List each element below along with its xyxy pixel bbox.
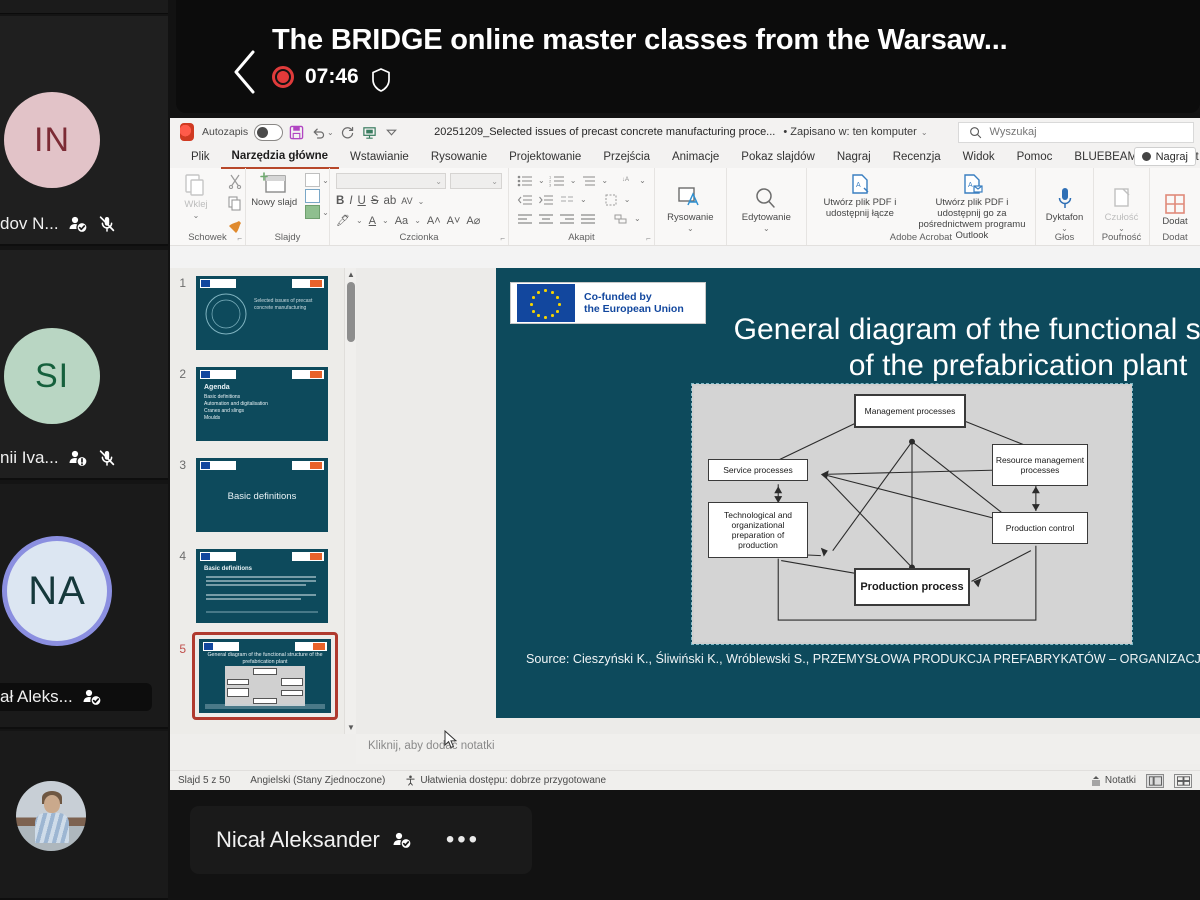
font-color-icon[interactable]: A [369, 215, 376, 227]
tab-widok[interactable]: Widok [952, 146, 1006, 168]
reset-icon [305, 189, 320, 203]
slide-preview-title: Selected issues of precast concrete manu… [254, 298, 316, 311]
slide-number: 5 [170, 632, 192, 656]
notes-pane[interactable]: Kliknij, aby dodać notatki [356, 734, 1200, 764]
customize-toolbar-chevron-down-icon[interactable] [383, 121, 400, 143]
recording-timer: 07:46 [305, 65, 359, 89]
akapit-dialog-launcher[interactable]: ⌐ [646, 234, 651, 243]
create-pdf-share-link-label: Utwórz plik PDF i udostępnij łącze [814, 197, 906, 219]
slide-thumbnail-4[interactable]: 4 Basic definitions [170, 545, 356, 627]
decrease-indent-icon[interactable] [517, 193, 534, 206]
shield-icon [370, 67, 390, 87]
slide-title-line2: of the prefabrication plant [496, 348, 1200, 384]
bullets-icon[interactable] [517, 174, 534, 187]
paste-icon [183, 171, 209, 199]
notes-icon [1090, 775, 1102, 787]
ribbon-group-label: Głos [1036, 232, 1093, 243]
tab-narzedzia-glowne[interactable]: Narzędzia główne [221, 145, 340, 169]
ppt-titlebar: Autozapis ⌄ 20251209_Selected issues of … [170, 118, 1200, 146]
slide-preview-diagram [225, 666, 305, 706]
eu-logo-icon [200, 461, 236, 470]
slide-number: 1 [170, 272, 192, 290]
ribbon-group-label: Akapit [509, 232, 654, 243]
layout-icon [305, 173, 320, 187]
ribbon-group-adobe-acrobat: A Utwórz plik PDF i udostępnij łącze A U… [807, 168, 1036, 245]
line-spacing-icon[interactable]: ↓A [618, 174, 635, 187]
increase-font-icon[interactable]: A˄ [427, 215, 441, 227]
line-spacing-chevron-down-icon[interactable]: ⌄ [639, 176, 646, 185]
participant-tile-2[interactable]: SI nii Iva... [0, 250, 168, 480]
slide-preview: Basic definitions [196, 549, 328, 623]
paste-label: Wklej [184, 199, 207, 210]
back-button[interactable] [212, 47, 266, 67]
drawing-label: Rysowanie [667, 212, 713, 223]
participant-tile-1[interactable]: IN dov N... [0, 16, 168, 246]
ribbon-group-label: Dodat [1150, 232, 1200, 243]
slide-title-line1: General diagram of the functional struct… [496, 312, 1200, 348]
dictate-button[interactable]: Dyktafon ⌄ [1040, 186, 1090, 234]
drawing-icon [675, 186, 705, 212]
avatar-photo [16, 781, 86, 851]
bridge-logo-icon [292, 279, 324, 288]
slide-stage: Co-funded by the European Union The B ri… [356, 268, 1200, 734]
diagram-node-management: Management processes [854, 394, 966, 428]
record-button-label: Nagraj [1156, 151, 1188, 163]
slide-preview-bullet-4: Moulds [204, 415, 220, 421]
thumbnail-scrollbar[interactable]: ▲ ▼ [344, 268, 356, 734]
search-placeholder: Wyszukaj [990, 126, 1037, 138]
character-spacing-icon[interactable]: AV [401, 196, 412, 206]
ribbon-group-label: Poufność [1094, 232, 1149, 243]
text-direction-icon[interactable] [603, 193, 620, 206]
text-highlight-icon[interactable]: 🖊 [336, 214, 350, 227]
ribbon-group-akapit: ⌄ 123⌄ ⌄ ↓A⌄ ⌄ ⌄ [509, 168, 655, 245]
spacing-chevron-down-icon[interactable]: ⌄ [418, 197, 425, 206]
accessibility-status[interactable]: Ułatwienia dostępu: dobrze przygotowane [405, 775, 606, 786]
cut-scissors-icon[interactable] [227, 173, 247, 193]
mic-muted-icon [97, 214, 117, 234]
participant-tile-3[interactable]: NA ał Aleks... [0, 484, 168, 729]
slide-preview-title: Basic definitions [204, 566, 252, 572]
tab-plik[interactable]: Plik [180, 146, 221, 168]
text-line [206, 584, 306, 586]
layout-button[interactable]: ⌄ [305, 173, 329, 187]
slide-thumbnail-panel[interactable]: 1 Selected issues of precast concrete ma… [170, 268, 356, 734]
bridge-logo-icon [295, 642, 327, 651]
create-pdf-outlook-button[interactable]: A Utwórz plik PDF i udostępnij go za poś… [916, 173, 1028, 241]
bridge-logo-icon [292, 552, 324, 561]
section-icon [305, 205, 320, 219]
addins-grid-icon [1163, 192, 1187, 216]
avatar: SI [4, 328, 100, 424]
slide-number: 2 [170, 363, 192, 381]
sensitivity-button[interactable]: Czułość ⌄ [1097, 186, 1147, 234]
slide-thumbnail-5[interactable]: 5 General diagram of the functional stru… [170, 632, 356, 720]
participant-name: dov N... [0, 214, 59, 234]
diagram-node-resource: Resource management processes [992, 444, 1088, 486]
avatar-initials: NA [28, 569, 86, 614]
editing-button[interactable]: Edytowanie ⌄ [731, 186, 801, 234]
tab-pokaz-slajdow[interactable]: Pokaz slajdów [730, 146, 826, 168]
dictate-label: Dyktafon [1046, 212, 1084, 223]
slide-thumbnail-6[interactable]: 6 Automation and digitalisation [170, 730, 356, 734]
new-slide-label: Nowy slajd [251, 197, 297, 208]
presenter-check-icon [392, 830, 412, 850]
present-screen-icon[interactable] [361, 121, 378, 143]
addins-label: Dodat [1162, 216, 1187, 227]
source-line [205, 704, 325, 709]
record-button[interactable]: Nagraj [1134, 147, 1196, 166]
text-line [206, 576, 316, 578]
drawing-chevron-down-icon[interactable]: ⌄ [687, 223, 694, 234]
slide-preview-bullet-3: Cranes and slings [204, 408, 244, 414]
sensitivity-label: Czułość [1105, 212, 1139, 223]
meeting-subbar: 07:46 [272, 65, 1007, 89]
italic-button[interactable]: I [349, 195, 352, 207]
slide-number: 4 [170, 545, 192, 563]
workspace: 1 Selected issues of precast concrete ma… [170, 268, 1200, 790]
diagram-node-techprep: Technological and organizational prepara… [708, 502, 808, 558]
accessibility-text: Ułatwienia dostępu: dobrze przygotowane [420, 775, 606, 786]
ribbon-group-label: Slajdy [246, 232, 329, 243]
ribbon-group-poufnosc: Czułość ⌄ Poufność [1094, 168, 1150, 245]
tab-rysowanie[interactable]: Rysowanie [420, 146, 498, 168]
copy-icon[interactable] [227, 195, 247, 215]
autosave-label: Autozapis [202, 126, 248, 138]
meeting-title-block: The BRIDGE online master classes from th… [272, 24, 1007, 89]
status-bar: Slajd 5 z 50 Angielski (Stany Zjednoczon… [170, 770, 1200, 790]
text-line [206, 580, 316, 582]
notes-label: Notatki [1105, 775, 1136, 786]
selected-thumbnail-frame[interactable]: General diagram of the functional struct… [192, 632, 338, 720]
presenter-alert-icon [68, 448, 88, 468]
multilevel-chevron-down-icon[interactable]: ⌄ [601, 176, 608, 185]
text-shadow-icon[interactable]: ab [384, 195, 397, 207]
numbering-chevron-down-icon[interactable]: ⌄ [570, 176, 577, 185]
text-line [206, 598, 301, 600]
justify-icon[interactable] [580, 212, 597, 225]
numbering-icon[interactable]: 123 [549, 174, 566, 187]
ribbon-group-dodatki: Dodat Dodat [1150, 168, 1200, 245]
svg-text:3: 3 [549, 182, 552, 187]
increase-indent-icon[interactable] [538, 193, 555, 206]
more-options-button[interactable]: ••• [446, 835, 480, 845]
slide-preview-bullet-1: Basic definitions [204, 394, 240, 400]
slide-thumbnail-2[interactable]: 2 Agenda Basic definitions Automation an… [170, 363, 356, 445]
strikethrough-button[interactable]: S [371, 195, 379, 207]
text-direction-chevron-down-icon[interactable]: ⌄ [624, 195, 631, 204]
case-chevron-down-icon[interactable]: ⌄ [414, 216, 421, 225]
create-pdf-share-link-button[interactable]: A Utwórz plik PDF i udostępnij łącze [814, 173, 906, 219]
slide-title[interactable]: General diagram of the functional struct… [496, 312, 1200, 384]
new-slide-icon [260, 171, 288, 197]
active-speaker-pill: Nicał Aleksander ••• [190, 806, 532, 874]
multilevel-list-icon[interactable] [580, 174, 597, 187]
slide-preview-title: Basic definitions [196, 491, 328, 502]
font-family-select[interactable]: ⌄ [336, 173, 446, 189]
slide-preview-title: General diagram of the functional struct… [203, 652, 327, 665]
record-dot-icon [272, 66, 294, 88]
slide-preview: General diagram of the functional struct… [199, 639, 331, 713]
participant-tile-4[interactable] [0, 731, 168, 900]
redo-arrow-icon[interactable] [339, 121, 356, 143]
tab-animacje[interactable]: Animacje [661, 146, 730, 168]
saved-chevron-down-icon[interactable]: ⌄ [921, 128, 928, 137]
slide-sorter-icon[interactable] [1174, 774, 1192, 788]
pdf-outlook-icon: A [959, 173, 985, 197]
clear-formatting-icon[interactable]: A⌀ [466, 214, 480, 227]
ribbon-group-slajdy: Nowy slajd ⌄ ⌄ Slajdy [246, 168, 330, 245]
bridge-logo-icon [292, 461, 324, 470]
scroll-up-arrow-icon[interactable]: ▲ [347, 270, 355, 279]
tab-nagraj[interactable]: Nagraj [826, 146, 882, 168]
eu-logo-icon [200, 552, 236, 561]
section-chevron-down-icon[interactable]: ⌄ [322, 208, 329, 217]
convert-smartart-icon[interactable] [613, 212, 630, 225]
microphone-icon [1054, 186, 1076, 212]
ribbon-group-label: Schowek [170, 232, 245, 243]
diagram-node-service: Service processes [708, 459, 808, 481]
align-center-icon[interactable] [538, 212, 555, 225]
saved-status[interactable]: • Zapisano w: ten komputer [783, 126, 916, 138]
accessibility-icon [405, 775, 416, 786]
slide-preview: Agenda Basic definitions Automation and … [196, 367, 328, 441]
search-input[interactable]: Wyszukaj [958, 122, 1194, 143]
schowek-dialog-launcher[interactable]: ⌐ [237, 234, 242, 243]
avatar-initials: IN [34, 121, 70, 160]
addins-button[interactable]: Dodat [1152, 192, 1198, 227]
columns-chevron-down-icon[interactable]: ⌄ [580, 195, 587, 204]
ribbon-group-rysowanie: Rysowanie ⌄ [655, 168, 727, 245]
decrease-font-icon[interactable]: A˅ [447, 215, 461, 227]
scroll-down-arrow-icon[interactable]: ▼ [347, 723, 355, 732]
diagram-node-production: Production process [854, 568, 970, 606]
eu-logo-icon [203, 642, 239, 651]
photo-body [35, 813, 69, 843]
tab-recenzja[interactable]: Recenzja [882, 146, 952, 168]
columns-icon[interactable] [559, 193, 576, 206]
meeting-title: The BRIDGE online master classes from th… [272, 24, 1007, 57]
avatar-initials: SI [35, 357, 69, 396]
editing-label: Edytowanie [742, 212, 791, 223]
eu-logo-icon [200, 370, 236, 379]
bridge-logo-icon [292, 370, 324, 379]
paste-button[interactable]: Wklej ⌄ [170, 171, 224, 221]
photo-head [44, 795, 60, 813]
ribbon-group-czcionka: ⌄ ⌄ B I U S ab AV ⌄ 🖊⌄ A⌄ [330, 168, 509, 245]
slide-counter[interactable]: Slajd 5 z 50 [178, 775, 230, 786]
sensitivity-label-icon [1110, 186, 1134, 212]
slide-thumbnail-1[interactable]: 1 Selected issues of precast concrete ma… [170, 272, 356, 354]
svg-text:A: A [968, 182, 973, 189]
language-indicator[interactable]: Angielski (Stany Zjednoczone) [250, 775, 385, 786]
document-name[interactable]: 20251209_Selected issues of precast conc… [434, 126, 775, 138]
status-bar-right: Notatki [1090, 774, 1192, 788]
slide-thumbnail-3[interactable]: 3 Basic definitions [170, 454, 356, 536]
ribbon-group-schowek: Wklej ⌄ Schowek ⌐ [170, 168, 246, 245]
notes-toggle-button[interactable]: Notatki [1090, 775, 1136, 787]
text-line [206, 611, 318, 613]
avatar: NA [2, 536, 112, 646]
ribbon: Wklej ⌄ Schowek ⌐ Nowy slajd [170, 168, 1200, 246]
participant-name: ał Aleks... [0, 687, 73, 707]
change-case-icon[interactable]: Aa [395, 215, 408, 227]
chevron-left-icon [229, 47, 249, 67]
scrollbar-thumb[interactable] [347, 282, 355, 342]
paste-chevron-down-icon[interactable]: ⌄ [193, 210, 200, 221]
highlight-chevron-down-icon[interactable]: ⌄ [356, 216, 363, 225]
underline-button[interactable]: U [358, 195, 366, 207]
editing-chevron-down-icon[interactable]: ⌄ [763, 223, 770, 234]
current-slide[interactable]: Co-funded by the European Union The B ri… [496, 268, 1200, 718]
ribbon-group-label: Adobe Acrobat [807, 232, 1035, 243]
participant-name-row: ał Aleks... [0, 683, 152, 711]
align-left-icon[interactable] [517, 212, 534, 225]
tab-wstawianie[interactable]: Wstawianie [339, 146, 420, 168]
meeting-header: The BRIDGE online master classes from th… [176, 0, 1200, 113]
mic-muted-icon [97, 448, 117, 468]
powerpoint-window: Autozapis ⌄ 20251209_Selected issues of … [170, 118, 1200, 790]
participant-name-row: nii Iva... [0, 448, 168, 468]
eu-logo-icon [200, 279, 236, 288]
font-color-chevron-down-icon[interactable]: ⌄ [382, 216, 389, 225]
autosave-toggle[interactable] [254, 124, 283, 141]
section-button[interactable]: ⌄ [305, 205, 329, 219]
diagram-node-control: Production control [992, 512, 1088, 544]
eu-logo-line1: Co-funded by [584, 291, 652, 303]
undo-dropdown-chevron-down-icon[interactable]: ⌄ [327, 128, 334, 137]
save-disk-icon[interactable] [288, 121, 305, 143]
slide-number: 6 [170, 730, 192, 734]
ribbon-group-glos: Dyktafon ⌄ Głos [1036, 168, 1094, 245]
svg-text:↓A: ↓A [622, 177, 629, 183]
active-speaker-name: Nicał Aleksander [216, 827, 380, 853]
drawing-button[interactable]: Rysowanie ⌄ [658, 186, 722, 234]
presenter-check-icon [68, 214, 88, 234]
notes-placeholder: Kliknij, aby dodać notatki [368, 740, 495, 752]
ribbon-tabs: Plik Narzędzia główne Wstawianie Rysowan… [170, 146, 1200, 168]
align-right-icon[interactable] [559, 212, 576, 225]
normal-view-icon[interactable] [1146, 774, 1164, 788]
reset-button[interactable] [305, 189, 329, 203]
powerpoint-logo-icon [180, 123, 194, 141]
layout-chevron-down-icon[interactable]: ⌄ [322, 176, 329, 185]
czcionka-dialog-launcher[interactable]: ⌐ [500, 234, 505, 243]
font-size-select[interactable]: ⌄ [450, 173, 502, 189]
participant-name-row: dov N... [0, 214, 168, 234]
svg-text:A: A [856, 182, 861, 189]
bullets-chevron-down-icon[interactable]: ⌄ [538, 176, 545, 185]
bold-button[interactable]: B [336, 195, 344, 207]
ribbon-group-label: Czcionka [330, 232, 508, 243]
functional-structure-diagram[interactable]: Management processes Service processes R… [692, 384, 1132, 644]
avatar: IN [4, 92, 100, 188]
ribbon-group-edytowanie: Edytowanie ⌄ [727, 168, 807, 245]
magnifier-icon [752, 186, 780, 212]
screen-root: IN dov N... SI nii Iva... NA ał [0, 0, 1200, 900]
presenter-check-icon [82, 687, 102, 707]
slide-preview-bullet-2: Automation and digitalisation [204, 401, 268, 407]
text-line [206, 594, 316, 596]
rail-top-strip [0, 0, 168, 14]
slide-preview-title: Agenda [204, 384, 230, 391]
slide-number: 3 [170, 454, 192, 472]
undo-arrow-icon[interactable] [310, 121, 327, 143]
slide-preview: Basic definitions [196, 458, 328, 532]
tab-projektowanie[interactable]: Projektowanie [498, 146, 592, 168]
participant-name: nii Iva... [0, 448, 59, 468]
smartart-chevron-down-icon[interactable]: ⌄ [634, 214, 641, 223]
new-slide-button[interactable]: Nowy slajd [246, 171, 302, 208]
search-icon [969, 126, 982, 139]
pdf-link-icon: A [847, 173, 873, 197]
slide-preview: Selected issues of precast concrete manu… [196, 276, 328, 350]
tab-pomoc[interactable]: Pomoc [1006, 146, 1064, 168]
tab-przejscia[interactable]: Przejścia [592, 146, 661, 168]
record-dot-icon [1142, 152, 1151, 161]
slide-source-text: Source: Cieszyński K., Śliwiński K., Wró… [526, 650, 1200, 669]
participant-rail: IN dov N... SI nii Iva... NA ał [0, 0, 168, 900]
